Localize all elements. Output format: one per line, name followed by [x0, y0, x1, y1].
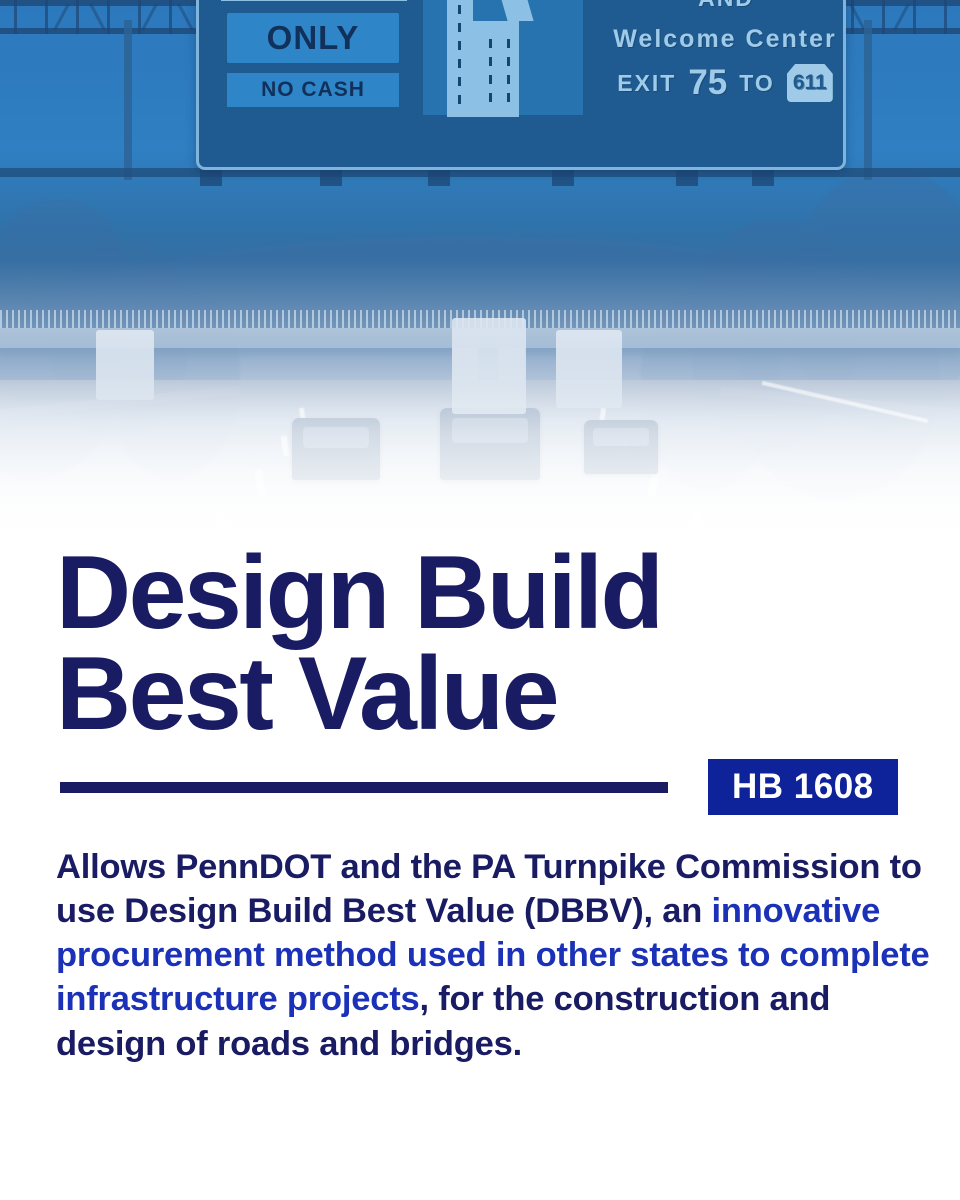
poster-content: Design Build Best Value HB 1608 Allows P…: [0, 0, 960, 1200]
page-title: Design Build Best Value: [56, 543, 916, 745]
poster: E-ZPass ONLY NO CASH CASH E-ZPass AND We…: [0, 0, 960, 1200]
divider-line: [60, 782, 668, 793]
divider-row: HB 1608: [60, 759, 900, 815]
body-paragraph: Allows PennDOT and the PA Turnpike Commi…: [56, 845, 932, 1066]
bill-number-badge: HB 1608: [708, 759, 898, 815]
